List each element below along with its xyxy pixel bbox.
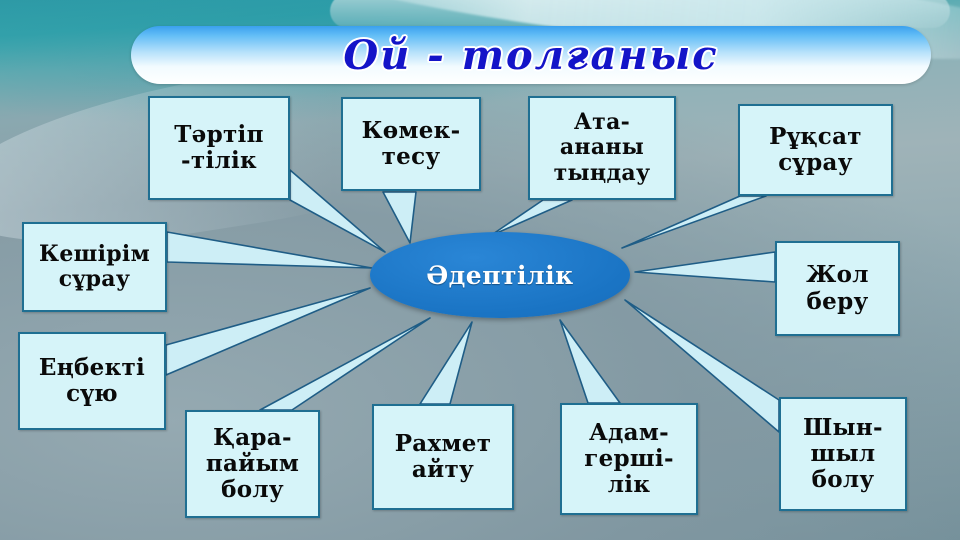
node-label: Шын- шыл болу — [803, 415, 883, 494]
node-qarapayym[interactable]: Қара- пайым болу — [185, 410, 320, 518]
slide-canvas: Ой - толғаныс Әдептілік Тәртіп -тілікКөм… — [0, 0, 960, 540]
node-keshirim[interactable]: Кешірім сұрау — [22, 222, 167, 312]
connector-komektesu — [383, 192, 416, 243]
node-komektesu[interactable]: Көмек- тесу — [341, 97, 481, 191]
node-label: Рұқсат сұрау — [769, 124, 862, 176]
node-label: Көмек- тесу — [362, 118, 461, 170]
node-label: Тәртіп -тілік — [174, 122, 263, 174]
node-enbekti-suyu[interactable]: Еңбекті сүю — [18, 332, 166, 430]
connector-ata-anany — [490, 200, 572, 236]
node-label: Қара- пайым болу — [206, 425, 299, 504]
node-label: Кешірім сұрау — [39, 242, 150, 292]
node-label: Жол беру — [806, 262, 869, 314]
node-adamgershi[interactable]: Адам- герші- лік — [560, 403, 698, 515]
node-ruqsat[interactable]: Рұқсат сұрау — [738, 104, 893, 196]
node-rahmet[interactable]: Рахмет айту — [372, 404, 514, 510]
connector-ruqsat — [622, 196, 766, 248]
node-shynshyl[interactable]: Шын- шыл болу — [779, 397, 907, 511]
node-ata-anany[interactable]: Ата- ананы тыңдау — [528, 96, 676, 200]
node-label: Рахмет айту — [395, 431, 492, 483]
node-zhol-beru[interactable]: Жол беру — [775, 241, 900, 336]
node-label: Еңбекті сүю — [39, 355, 145, 407]
connector-enbekti-suyu — [166, 288, 370, 375]
node-label: Адам- герші- лік — [584, 420, 674, 499]
node-tartiptilik[interactable]: Тәртіп -тілік — [148, 96, 290, 200]
node-label: Ата- ананы тыңдау — [554, 110, 651, 185]
center-node-label: Әдептілік — [426, 261, 573, 290]
center-node[interactable]: Әдептілік — [370, 232, 630, 318]
connector-rahmet — [420, 322, 472, 404]
connector-zhol-beru — [635, 252, 775, 282]
connector-keshirim — [167, 232, 372, 268]
connector-qarapayym — [260, 318, 430, 410]
connector-adamgershi — [560, 320, 620, 403]
